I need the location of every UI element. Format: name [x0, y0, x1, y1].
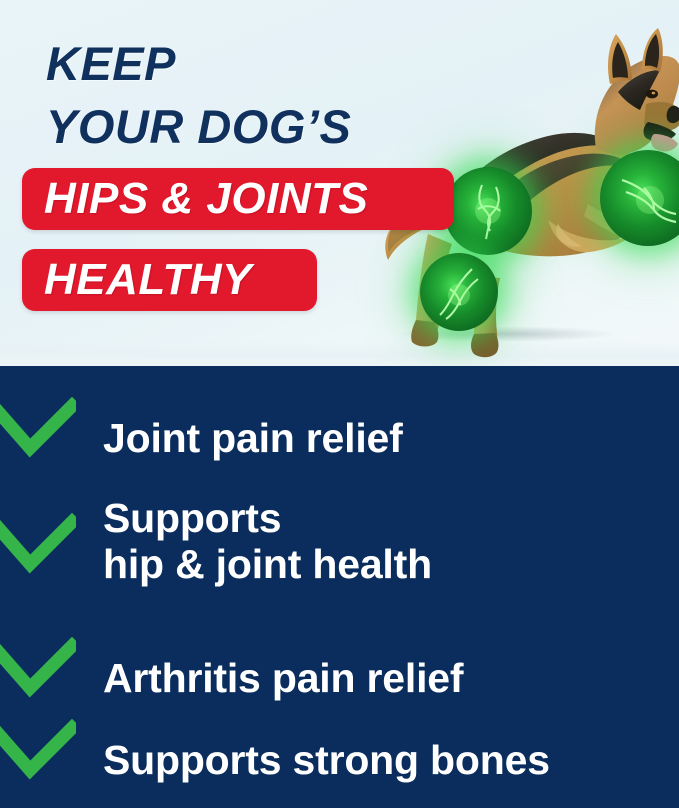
benefit-label: Joint pain relief [103, 416, 403, 462]
check-icon [0, 634, 76, 702]
benefit-label: Arthritis pain relief [103, 656, 463, 702]
ribbon-hips-and-joints-label: HIPS & JOINTS [44, 177, 368, 221]
benefit-label: Supports strong bones [103, 738, 550, 784]
ribbon-healthy: HEALTHY [22, 249, 317, 311]
hock-joint-highlight [420, 253, 498, 331]
benefits-section: Joint pain relief Supports hip & joint h… [0, 366, 679, 808]
ribbon-healthy-label: HEALTHY [44, 258, 252, 302]
hero-section: KEEP YOUR DOG’S HIPS & JOINTS HEALTHY [0, 0, 679, 366]
headline: KEEP YOUR DOG’S [46, 40, 351, 150]
product-feature-poster: KEEP YOUR DOG’S HIPS & JOINTS HEALTHY Jo… [0, 0, 679, 808]
check-icon [0, 394, 76, 462]
hind-knee-joint-highlight [444, 167, 532, 255]
check-icon [0, 510, 76, 578]
benefit-label: Supports hip & joint health [103, 496, 432, 588]
ribbon-hips-and-joints: HIPS & JOINTS [22, 168, 454, 230]
headline-line-2: YOUR DOG’S [46, 103, 351, 150]
check-icon [0, 716, 76, 784]
headline-line-1: KEEP [46, 40, 351, 87]
front-shoulder-joint-highlight [600, 150, 679, 246]
